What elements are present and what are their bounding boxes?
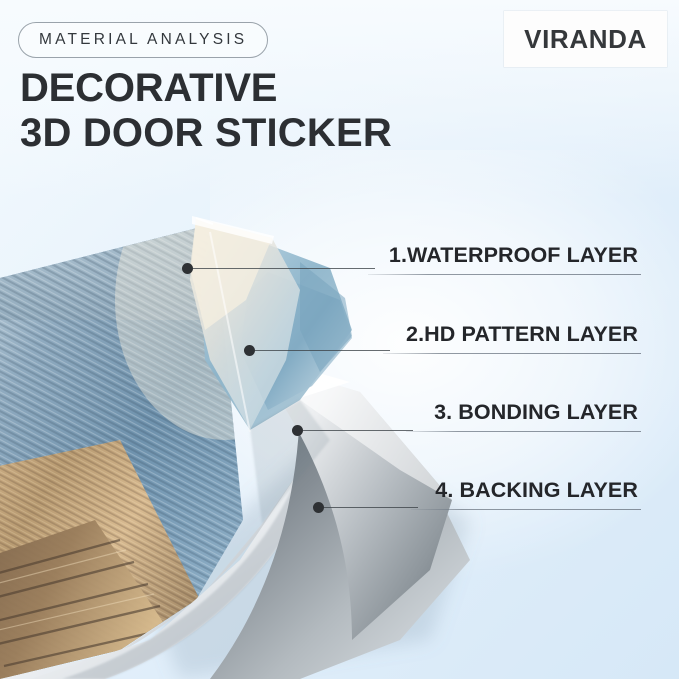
callout-dot-1 <box>182 263 193 274</box>
callout-leader-line-2 <box>255 350 390 351</box>
callout-underline-2 <box>383 353 641 354</box>
callout-underline-1 <box>368 274 641 275</box>
badge-label: MATERIAL ANALYSIS <box>39 31 247 49</box>
callout-underline-3 <box>406 431 641 432</box>
material-analysis-badge: MATERIAL ANALYSIS <box>18 22 268 58</box>
title-line-1: DECORATIVE <box>20 66 392 111</box>
callout-dot-2 <box>244 345 255 356</box>
brand-logo-box: VIRANDA <box>504 11 667 67</box>
callout-label-4: 4. BACKING LAYER <box>435 478 638 503</box>
callout-underline-4 <box>411 509 641 510</box>
brand-name: VIRANDA <box>524 24 647 55</box>
callout-label-3: 3. BONDING LAYER <box>434 400 638 425</box>
callout-leader-line-3 <box>303 430 413 431</box>
infographic-canvas: MATERIAL ANALYSIS DECORATIVE 3D DOOR STI… <box>0 0 679 679</box>
callout-leader-line-1 <box>193 268 375 269</box>
page-title: DECORATIVE 3D DOOR STICKER <box>20 66 392 156</box>
callout-label-1: 1.WATERPROOF LAYER <box>389 243 638 268</box>
callout-label-2: 2.HD PATTERN LAYER <box>406 322 638 347</box>
callout-leader-line-4 <box>324 507 418 508</box>
callout-dot-4 <box>313 502 324 513</box>
title-line-2: 3D DOOR STICKER <box>20 111 392 156</box>
callout-dot-3 <box>292 425 303 436</box>
